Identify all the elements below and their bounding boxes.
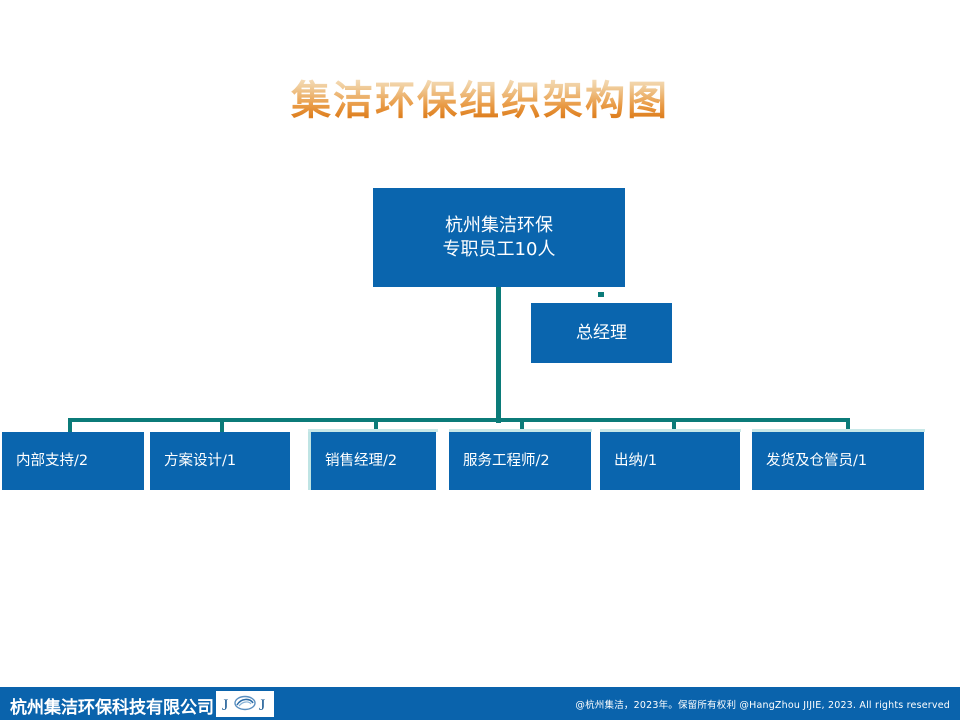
org-node-department-3[interactable]: 服务工程师/2 [449, 432, 591, 490]
logo-glyph-icon: J J [218, 693, 272, 715]
footer-company-name: 杭州集洁环保科技有限公司 [10, 693, 214, 718]
org-node-department-1-label: 方案设计/1 [164, 452, 236, 471]
org-node-department-5-label: 发货及仓管员/1 [766, 452, 867, 471]
company-logo-icon: J J [216, 691, 274, 717]
org-node-department-5[interactable]: 发货及仓管员/1 [752, 432, 924, 490]
org-node-department-1[interactable]: 方案设计/1 [150, 432, 290, 490]
org-node-department-2-label: 销售经理/2 [325, 452, 397, 471]
footer-copyright: @杭州集洁，2023年。保留所有权利 @HangZhou JIJIE, 2023… [575, 697, 950, 711]
connector-trunk-vertical [496, 287, 501, 423]
org-node-department-0-label: 内部支持/2 [16, 452, 88, 471]
org-node-general-manager-label: 总经理 [576, 322, 627, 344]
connector-horizontal-bus [68, 418, 850, 422]
svg-text:J: J [259, 697, 265, 714]
org-node-department-4[interactable]: 出纳/1 [600, 432, 740, 490]
org-node-department-2[interactable]: 销售经理/2 [308, 432, 436, 490]
org-node-root[interactable]: 杭州集洁环保 专职员工10人 [373, 188, 625, 287]
connector-gm-tick [598, 292, 604, 297]
slide-canvas: 集洁环保组织架构图 集洁环保组织架构图 杭州集洁环保 专职员工10人 总经理 内… [0, 0, 960, 720]
org-node-department-3-label: 服务工程师/2 [463, 452, 550, 471]
svg-text:J: J [222, 697, 228, 714]
org-node-department-4-label: 出纳/1 [614, 452, 657, 471]
footer-bar: 杭州集洁环保科技有限公司 @杭州集洁，2023年。保留所有权利 @HangZho… [0, 687, 960, 720]
org-node-general-manager[interactable]: 总经理 [531, 303, 672, 363]
org-node-root-label: 杭州集洁环保 专职员工10人 [443, 214, 556, 261]
page-title: 集洁环保组织架构图 [0, 76, 960, 126]
org-node-department-0[interactable]: 内部支持/2 [2, 432, 144, 490]
